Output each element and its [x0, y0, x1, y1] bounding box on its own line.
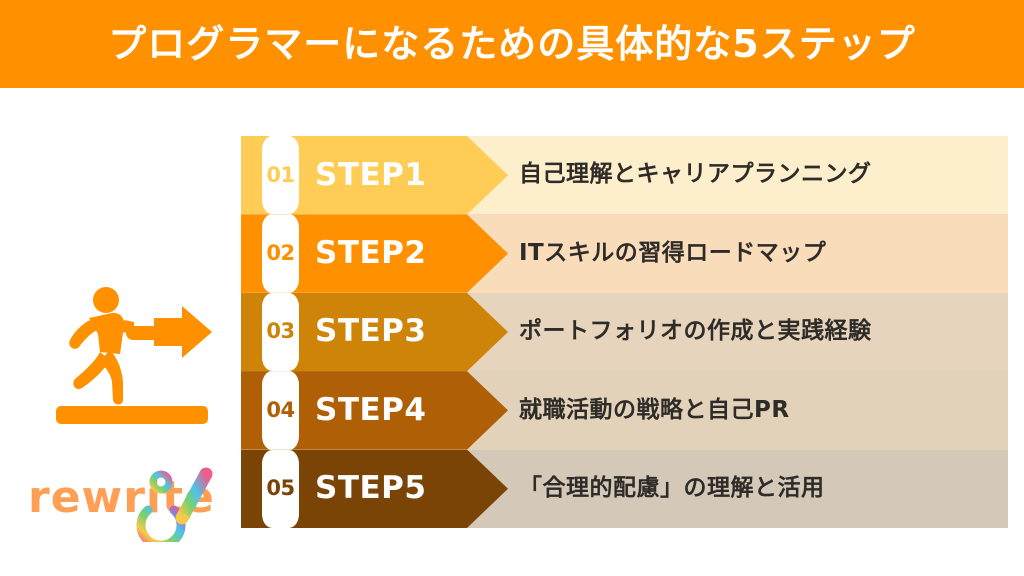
running-person-with-arrow-icon — [42, 282, 222, 432]
step-number-badge: 03 — [262, 293, 299, 371]
step-row[interactable]: 05 STEP5 「合理的配慮」の理解と活用 — [241, 450, 1008, 528]
step-label: STEP2 — [315, 214, 426, 292]
step-row[interactable]: 03 STEP3 ポートフォリオの作成と実践経験 — [241, 293, 1008, 371]
step-number: 01 — [266, 165, 294, 186]
step-description: 「合理的配慮」の理解と活用 — [519, 450, 998, 528]
step-row[interactable]: 01 STEP1 自己理解とキャリアプランニング — [241, 136, 1008, 214]
step-number: 04 — [266, 400, 294, 421]
step-number-badge: 04 — [262, 371, 299, 449]
step-number: 02 — [266, 243, 294, 264]
step-row[interactable]: 02 STEP2 ITスキルの習得ロードマップ — [241, 214, 1008, 292]
step-row[interactable]: 04 STEP4 就職活動の戦略と自己PR — [241, 371, 1008, 449]
step-arrow: 02 STEP2 — [241, 214, 508, 292]
step-number-badge: 01 — [262, 136, 299, 214]
step-label: STEP3 — [315, 293, 426, 371]
step-label: STEP5 — [315, 450, 426, 528]
header-band: プログラマーになるための具体的な5ステップ — [0, 0, 1024, 88]
step-number: 03 — [266, 321, 294, 342]
step-description: 就職活動の戦略と自己PR — [519, 371, 998, 449]
step-label: STEP1 — [315, 136, 426, 214]
step-arrow: 05 STEP5 — [241, 450, 508, 528]
step-description: ITスキルの習得ロードマップ — [519, 214, 998, 292]
step-description: ポートフォリオの作成と実践経験 — [519, 293, 998, 371]
step-label: STEP4 — [315, 371, 426, 449]
step-number-badge: 05 — [262, 450, 299, 528]
step-description: 自己理解とキャリアプランニング — [519, 136, 998, 214]
step-number: 05 — [266, 478, 294, 499]
step-arrow: 01 STEP1 — [241, 136, 508, 214]
rainbow-pencil-circle-mark — [132, 466, 228, 542]
step-arrow: 04 STEP4 — [241, 371, 508, 449]
logo: rewrite — [28, 468, 228, 534]
page-title: プログラマーになるための具体的な5ステップ — [108, 25, 915, 63]
steps-panel: 01 STEP1 自己理解とキャリアプランニング 02 STEP2 ITスキルの… — [241, 136, 1008, 528]
step-arrow: 03 STEP3 — [241, 293, 508, 371]
step-number-badge: 02 — [262, 214, 299, 292]
